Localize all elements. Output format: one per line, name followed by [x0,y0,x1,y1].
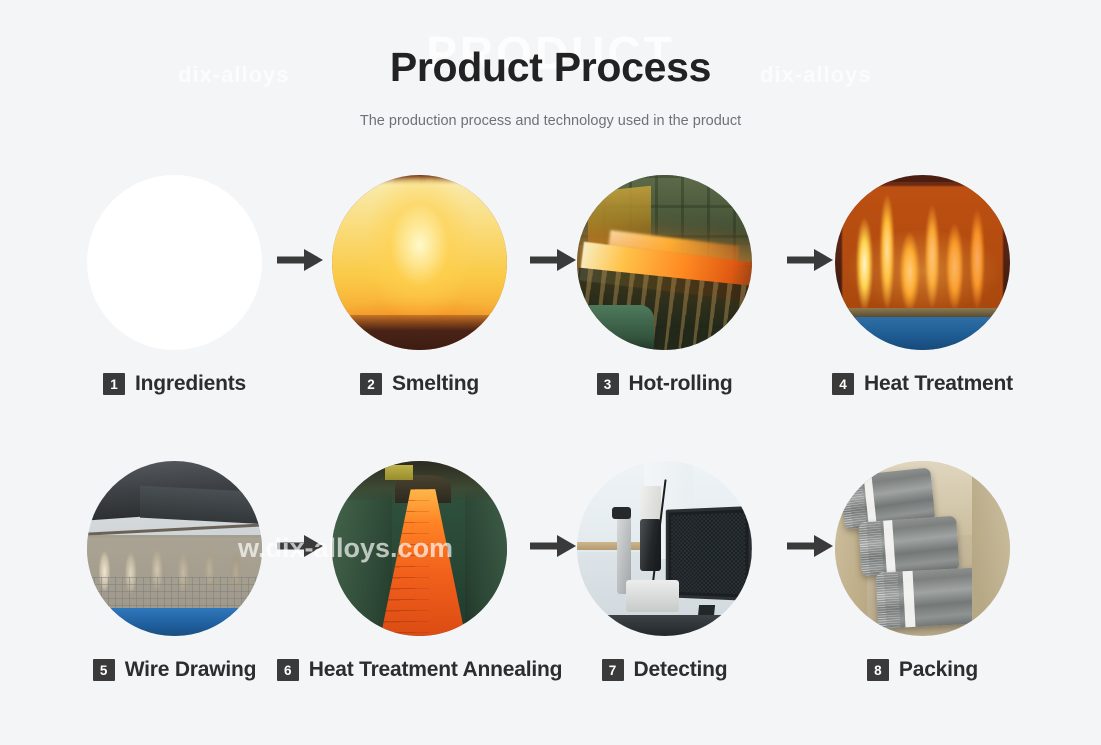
page-title: Product Process [0,44,1101,91]
microscope-monitor-photo [577,461,752,636]
microscope-camera [640,486,661,521]
process-row-1: 1 Ingredients 2 Smelting [0,175,1101,461]
process-step-2[interactable]: 2 Smelting [297,175,542,396]
microscope-base [626,580,679,612]
machine-blue-base [87,608,262,636]
step-number-badge: 8 [867,659,889,681]
process-step-6[interactable]: 6 Heat Treatment Annealing [297,461,542,682]
step-label: Wire Drawing [125,658,257,682]
molten-floor [332,315,507,350]
process-step-3[interactable]: 3 Hot-rolling [542,175,787,396]
flame-glow [835,210,1010,312]
process-step-8[interactable]: 8 Packing [800,461,1045,682]
step-5-caption: 5 Wire Drawing [52,658,297,682]
step-2-thumb-wrap [332,175,507,350]
step-number-badge: 4 [832,373,854,395]
furnace-base [835,317,1010,350]
step-number-badge: 5 [93,659,115,681]
hot-rolling-mill-photo [577,175,752,350]
machine-hood-rear [140,486,263,524]
step-label: Smelting [392,372,479,396]
step-label: Packing [899,658,978,682]
step-5-thumb-wrap [87,461,262,636]
step-number-badge: 1 [103,373,125,395]
process-step-1[interactable]: 1 Ingredients [52,175,297,396]
step-6-caption: 6 Heat Treatment Annealing [297,658,542,682]
step-3-thumb-wrap [577,175,752,350]
lab-bench [577,615,752,636]
wire-spools-box-photo [835,461,1010,636]
molten-metal-pour-photo [332,175,507,350]
step-number-badge: 6 [277,659,299,681]
wire-drawing-machine-photo [87,461,262,636]
microscope-knob [612,507,631,519]
step-number-badge: 2 [360,373,382,395]
step-1-thumb-wrap [87,175,262,350]
step-4-caption: 4 Heat Treatment [800,372,1045,396]
step-4-thumb-wrap [835,175,1010,350]
strip-ribs [379,489,467,636]
machine-grating [87,577,262,612]
powder-texture [87,175,262,350]
carton-flap [972,461,1011,636]
step-label: Ingredients [135,372,246,396]
process-flow: 1 Ingredients 2 Smelting [0,175,1101,745]
process-step-4[interactable]: 4 Heat Treatment [800,175,1045,396]
process-row-2: 5 Wire Drawing 6 [0,461,1101,745]
step-label: Detecting [634,658,728,682]
process-step-7[interactable]: 7 Detecting [542,461,787,682]
step-6-thumb-wrap [332,461,507,636]
furnace-flames-photo [835,175,1010,350]
furnace-lip [839,308,1007,317]
step-number-badge: 7 [602,659,624,681]
monitor-screen [671,513,745,595]
annealing-furnace-photo [332,461,507,636]
page-header: Product Process The production process a… [0,0,1101,129]
mill-machine [581,305,655,351]
step-7-caption: 7 Detecting [542,658,787,682]
metal-powder-photo [87,175,262,350]
machine-rail [87,523,262,536]
step-8-caption: 8 Packing [800,658,1045,682]
step-2-caption: 2 Smelting [297,372,542,396]
wire-spool [858,515,960,576]
process-step-5[interactable]: 5 Wire Drawing [52,461,297,682]
wire-spool [876,567,984,628]
furnace-control-panel [385,465,413,481]
step-8-thumb-wrap [835,461,1010,636]
step-3-caption: 3 Hot-rolling [542,372,787,396]
step-label: Heat Treatment Annealing [309,658,562,682]
step-label: Heat Treatment [864,372,1013,396]
step-number-badge: 3 [597,373,619,395]
step-label: Hot-rolling [629,372,733,396]
step-7-thumb-wrap [577,461,752,636]
step-1-caption: 1 Ingredients [52,372,297,396]
page-subtitle: The production process and technology us… [0,113,1101,129]
